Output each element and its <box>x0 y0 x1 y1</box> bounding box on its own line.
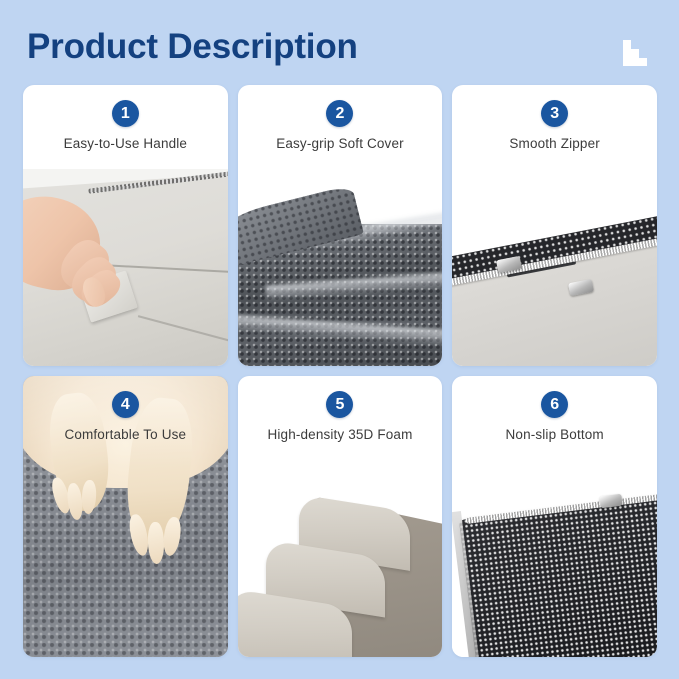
card-3-label: Smooth Zipper <box>452 136 657 151</box>
card-3-number-badge: 3 <box>541 100 568 127</box>
handle-photo <box>23 169 228 366</box>
card-1-header: 1 Easy-to-Use Handle <box>23 85 228 151</box>
non-slip-bottom-photo <box>452 460 657 657</box>
card-5-number-badge: 5 <box>326 391 353 418</box>
product-description-infographic: Product Description 1 <box>0 0 679 679</box>
card-2-number-badge: 2 <box>326 100 353 127</box>
feature-card-2[interactable]: 2 Easy-grip Soft Cover <box>238 85 443 366</box>
page-title: Product Description <box>27 26 358 68</box>
card-3-header: 3 Smooth Zipper <box>452 85 657 151</box>
card-1-label: Easy-to-Use Handle <box>23 136 228 151</box>
card-2-header: 2 Easy-grip Soft Cover <box>238 85 443 151</box>
soft-cover-photo <box>238 169 443 366</box>
card-6-number-badge: 6 <box>541 391 568 418</box>
stair-step-icon <box>615 40 647 66</box>
card-1-number-badge: 1 <box>112 100 139 127</box>
feature-card-5[interactable]: 5 High-density 35D Foam <box>238 376 443 657</box>
card-5-header: 5 High-density 35D Foam <box>238 376 443 442</box>
feature-card-grid: 1 Easy-to-Use Handle 2 Easy-grip Soft Co… <box>23 85 657 657</box>
card-6-header: 6 Non-slip Bottom <box>452 376 657 442</box>
feature-card-6[interactable]: 6 Non-slip Bottom <box>452 376 657 657</box>
dog-paws-photo <box>23 376 228 657</box>
feature-card-1[interactable]: 1 Easy-to-Use Handle <box>23 85 228 366</box>
feature-card-4[interactable]: 4 Comfortable To Use <box>23 376 228 657</box>
feature-card-3[interactable]: 3 Smooth Zipper <box>452 85 657 366</box>
zipper-photo <box>452 169 657 366</box>
card-5-label: High-density 35D Foam <box>238 427 443 442</box>
card-2-label: Easy-grip Soft Cover <box>238 136 443 151</box>
header: Product Description <box>0 0 679 84</box>
card-6-label: Non-slip Bottom <box>452 427 657 442</box>
foam-stairs-photo <box>238 460 443 657</box>
